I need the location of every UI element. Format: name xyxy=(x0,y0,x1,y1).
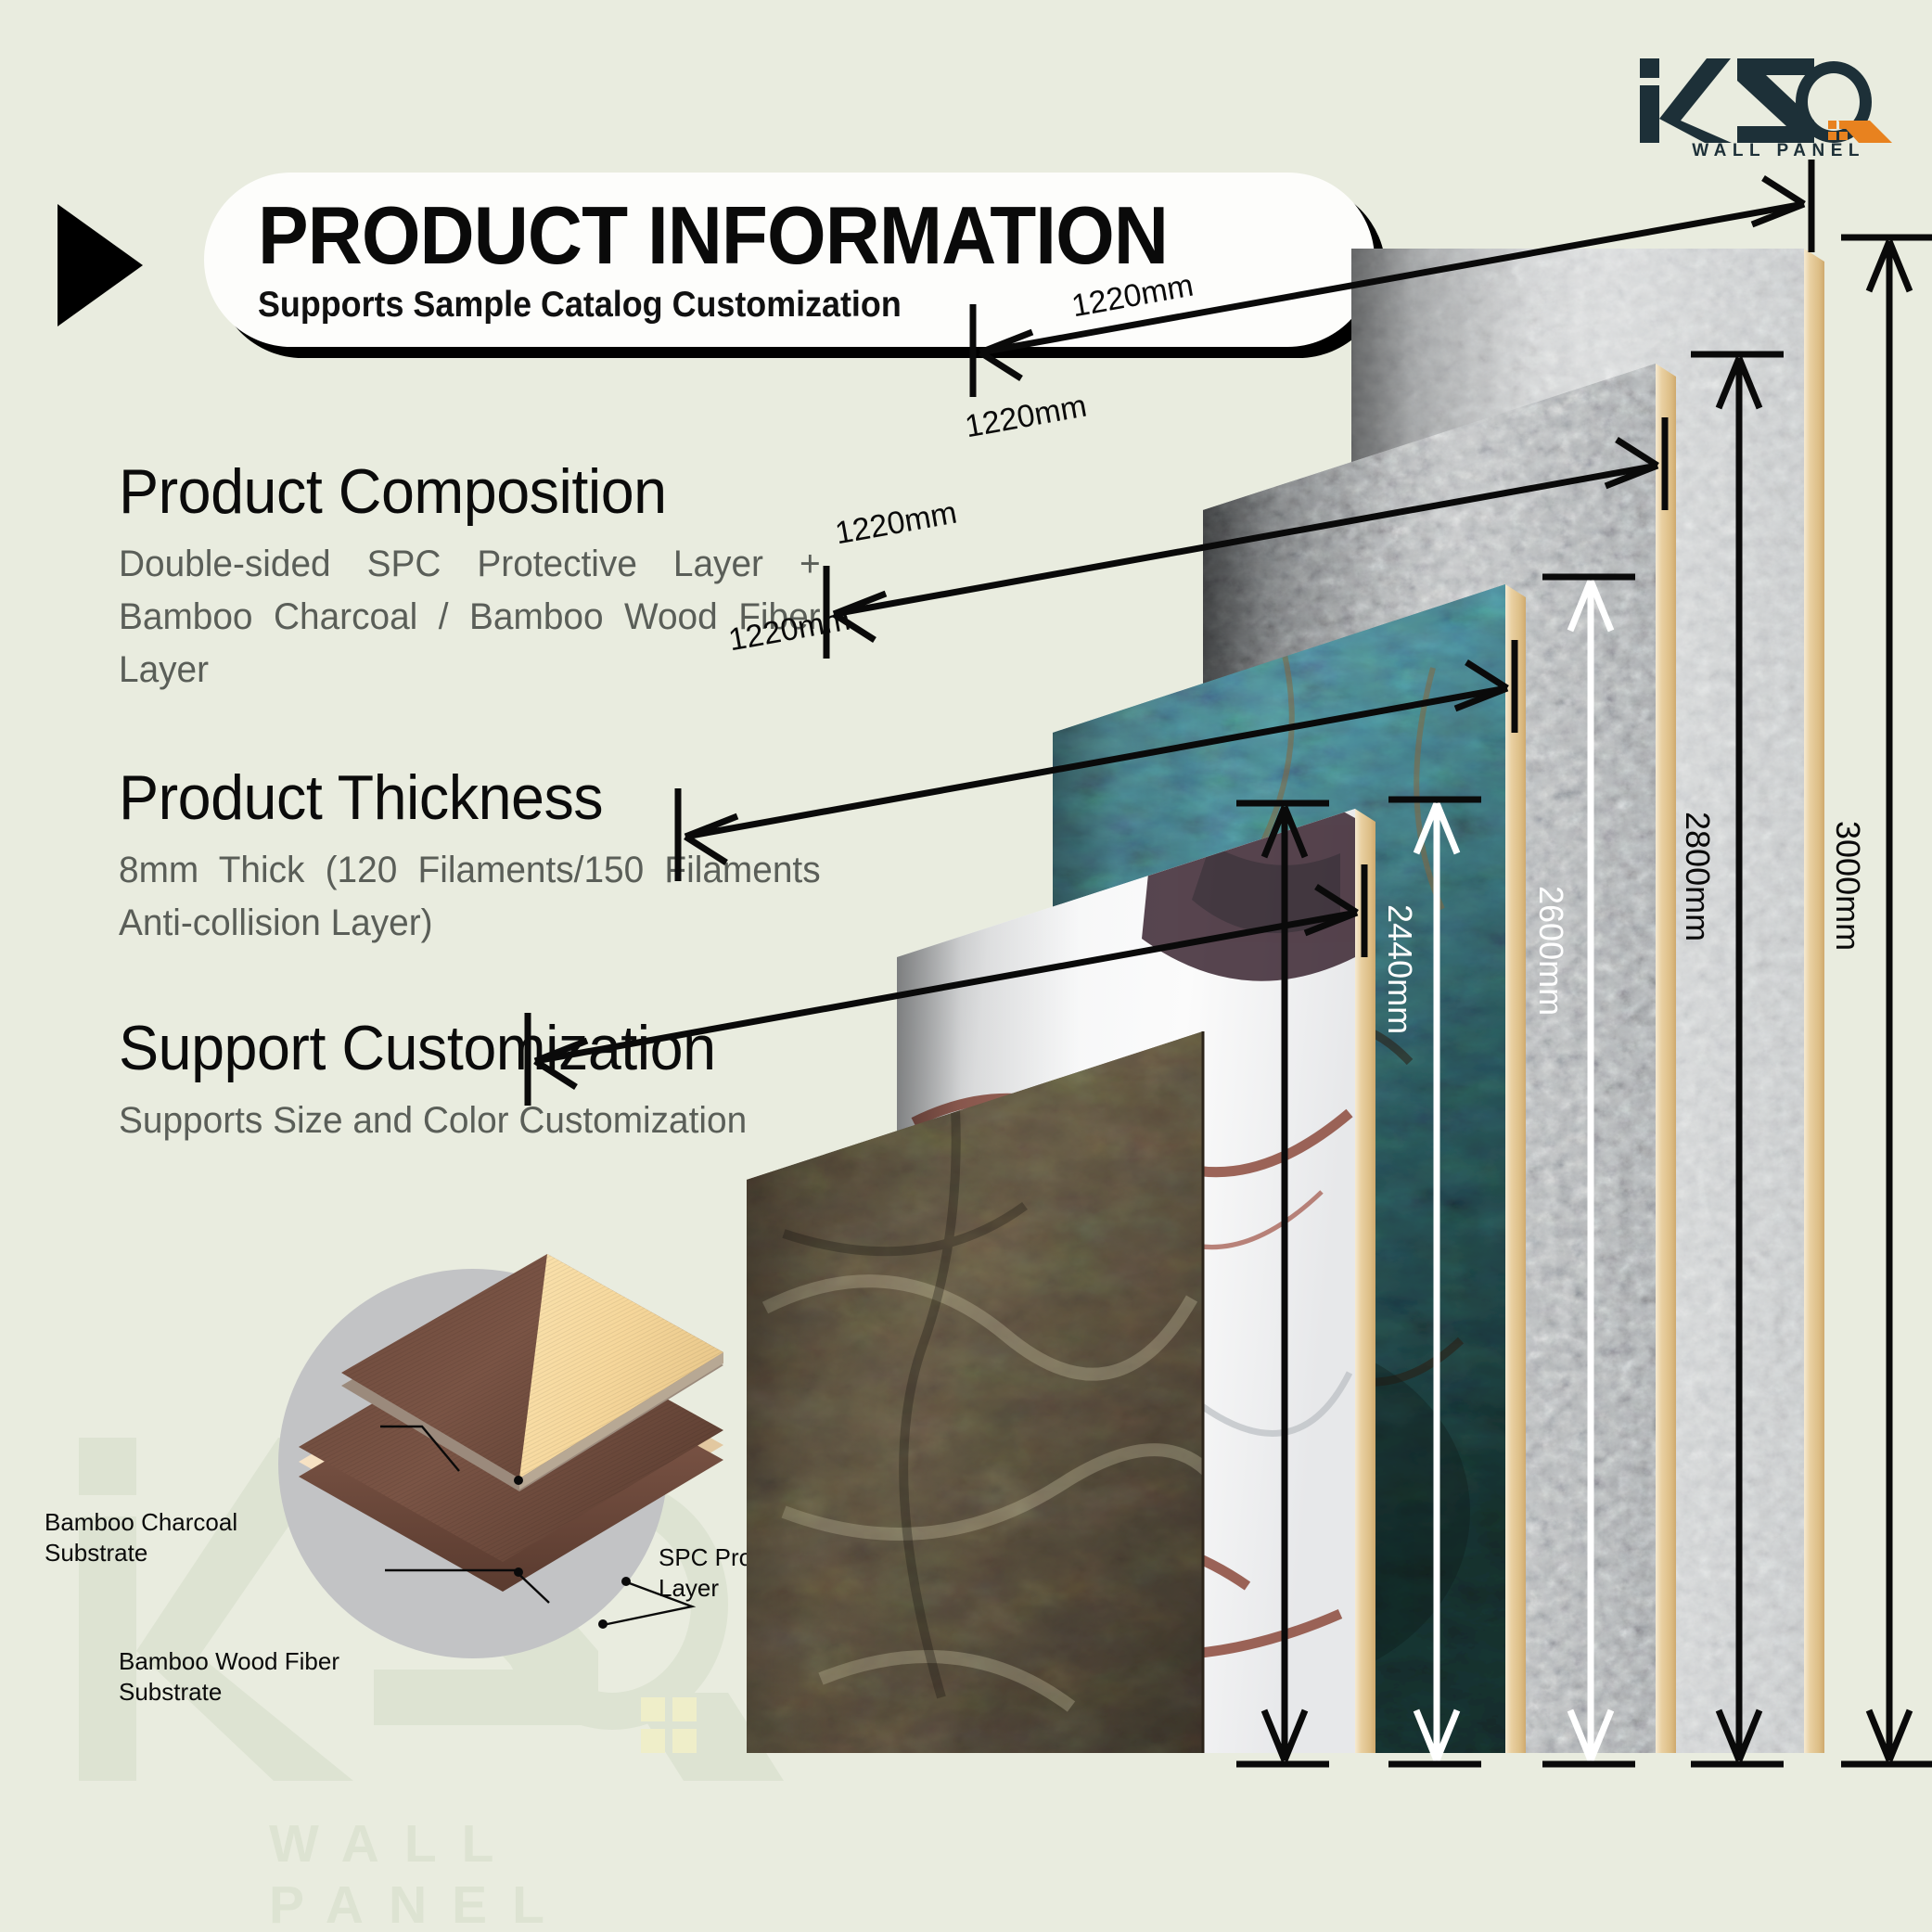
section-body: 8mm Thick (120 Filaments/150 Filaments A… xyxy=(119,844,821,950)
height-dim-3000 xyxy=(1841,237,1932,1764)
height-label-3000: 3000mm xyxy=(1828,821,1867,951)
watermark-subtitle: WALL PANEL xyxy=(269,1813,784,1932)
section-product-thickness: Product Thickness 8mm Thick (120 Filamen… xyxy=(119,765,842,950)
section-heading: Product Composition xyxy=(119,459,806,525)
callout-bamboo-charcoal-substrate: Bamboo Charcoal Substrate xyxy=(45,1507,286,1569)
section-body: Supports Size and Color Customization xyxy=(119,1094,821,1147)
height-label-2800: 2800mm xyxy=(1678,812,1717,941)
height-label-2600: 2600mm xyxy=(1531,886,1570,1016)
section-heading: Support Customization xyxy=(119,1016,806,1081)
layer-detail-diagram xyxy=(278,1269,668,1658)
logo-subtitle: WALL PANEL xyxy=(1692,141,1865,161)
panel-stack xyxy=(876,232,1932,1929)
section-support-customization: Support Customization Supports Size and … xyxy=(119,1016,842,1147)
section-body: Double-sided SPC Protective Layer + Bamb… xyxy=(119,538,821,696)
callout-bamboo-wood-fiber-substrate: Bamboo Wood Fiber Substrate xyxy=(119,1646,397,1708)
section-product-composition: Product Composition Double-sided SPC Pro… xyxy=(119,459,842,697)
infographic-canvas: WALL PANEL WALL PANEL PROD xyxy=(0,0,1932,1932)
section-heading: Product Thickness xyxy=(119,765,806,831)
height-label-2440: 2440mm xyxy=(1380,904,1419,1034)
play-triangle-icon xyxy=(58,204,143,326)
